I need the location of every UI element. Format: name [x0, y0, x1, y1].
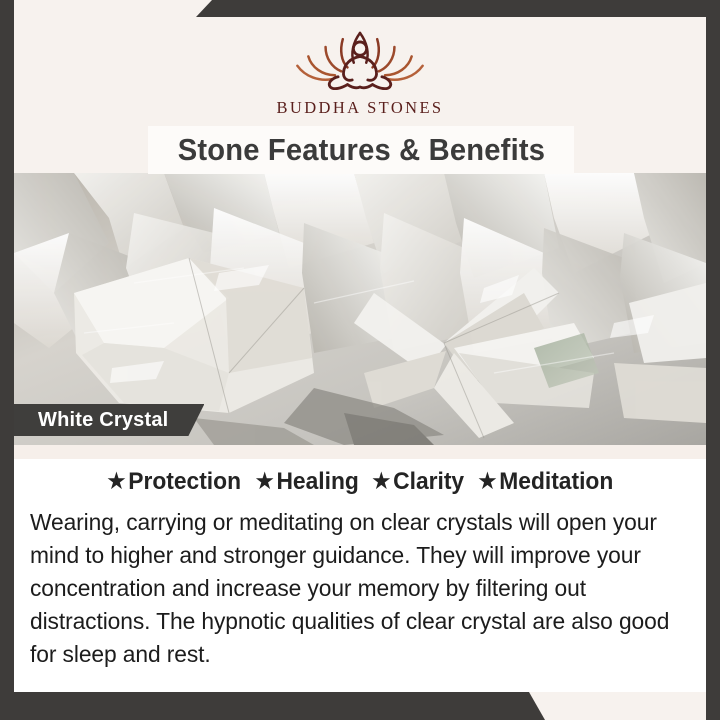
description-text: Wearing, carrying or meditating on clear… [30, 506, 682, 671]
brand-logo: BUDDHA STONES [245, 22, 475, 118]
star-icon: ★ [107, 469, 125, 494]
benefit-label: Healing [276, 468, 358, 495]
benefit-label: Protection [128, 468, 241, 495]
star-icon: ★ [255, 469, 273, 494]
benefits-list: ★Protection ★Healing ★Clarity ★Meditatio… [14, 468, 706, 496]
frame-right-edge [706, 0, 720, 720]
benefit-item: ★Healing [255, 468, 358, 496]
brand-name: BUDDHA STONES [245, 98, 475, 118]
photo-caption-text: White Crystal [38, 409, 168, 432]
benefit-label: Meditation [499, 468, 613, 495]
content-panel: ★Protection ★Healing ★Clarity ★Meditatio… [14, 459, 706, 692]
star-icon: ★ [478, 469, 496, 494]
photo-caption: White Crystal [14, 404, 204, 436]
section-separator [14, 445, 706, 459]
benefit-item: ★Protection [107, 468, 240, 496]
page-title: Stone Features & Benefits [148, 126, 574, 174]
poster: BUDDHA STONES Stone Features & Benefits [0, 0, 720, 720]
frame-left-edge [0, 0, 14, 720]
benefit-label: Clarity [393, 468, 464, 495]
benefit-item: ★Clarity [372, 468, 464, 496]
benefit-item: ★Meditation [478, 468, 613, 496]
page-title-text: Stone Features & Benefits [177, 132, 544, 168]
star-icon: ★ [372, 469, 390, 494]
lotus-meditation-icon [280, 22, 440, 94]
